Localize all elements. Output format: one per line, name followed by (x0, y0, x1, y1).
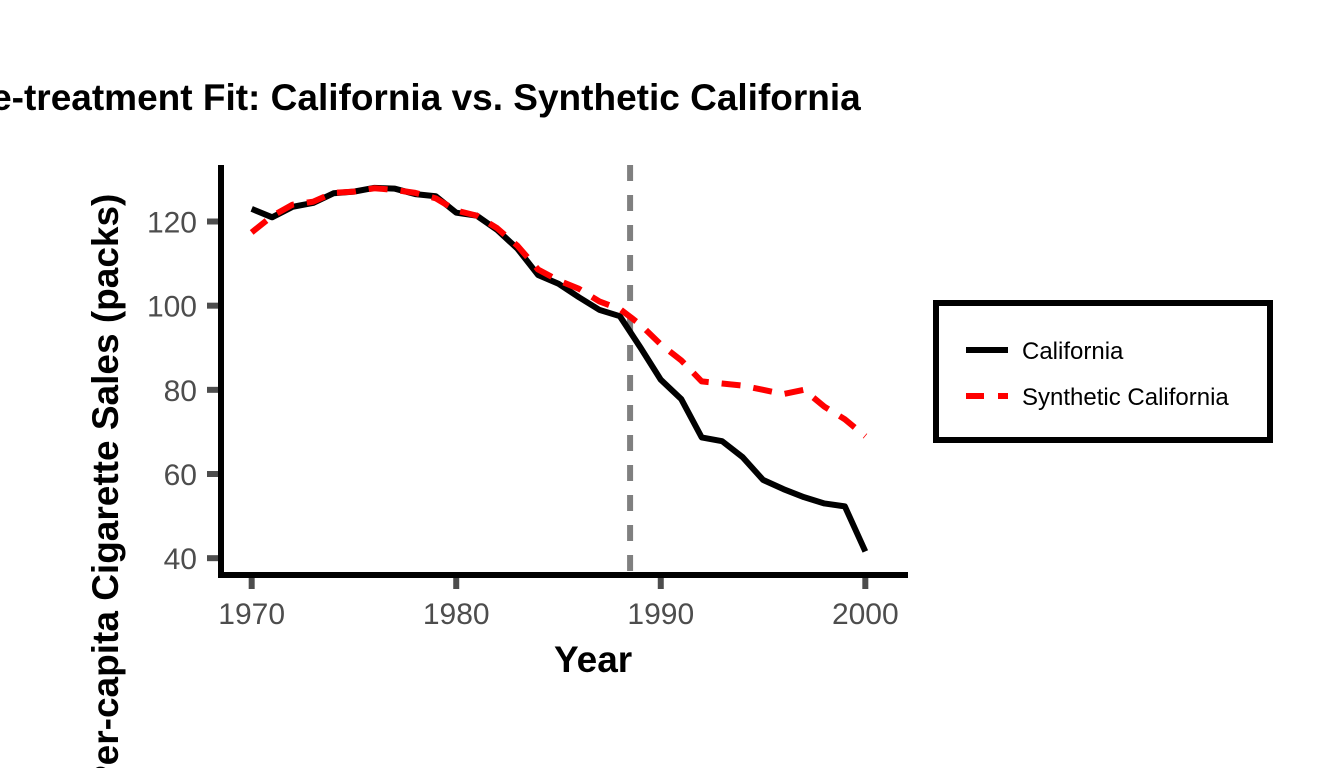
chart-title: Pre-treatment Fit: California vs. Synthe… (0, 77, 861, 118)
y-axis-tick-labels: 406080100120 (147, 207, 197, 577)
x-axis-title: Year (554, 639, 632, 680)
series-line-california (252, 188, 866, 552)
y-tick-label: 120 (147, 207, 197, 240)
legend-label-california: California (1022, 338, 1124, 365)
x-tick-label: 1970 (218, 598, 285, 631)
chart-canvas: Pre-treatment Fit: California vs. Synthe… (0, 0, 1344, 768)
legend-label-synthetic-california: Synthetic California (1022, 384, 1229, 411)
line-chart: Pre-treatment Fit: California vs. Synthe… (0, 0, 1344, 768)
y-tick-label: 60 (164, 459, 197, 492)
chart-legend: California Synthetic California (936, 303, 1270, 440)
legend-box (936, 303, 1270, 440)
x-tick-label: 1990 (627, 598, 694, 631)
y-tick-label: 40 (164, 543, 197, 576)
x-tick-label: 2000 (832, 598, 899, 631)
x-tick-label: 1980 (423, 598, 490, 631)
y-tick-label: 80 (164, 375, 197, 408)
data-series (252, 188, 866, 552)
y-axis-title: Per-capita Cigarette Sales (packs) (85, 194, 126, 768)
series-line-synthetic-california (252, 188, 866, 436)
x-axis-tick-labels: 1970198019902000 (218, 598, 898, 631)
y-tick-label: 100 (147, 291, 197, 324)
